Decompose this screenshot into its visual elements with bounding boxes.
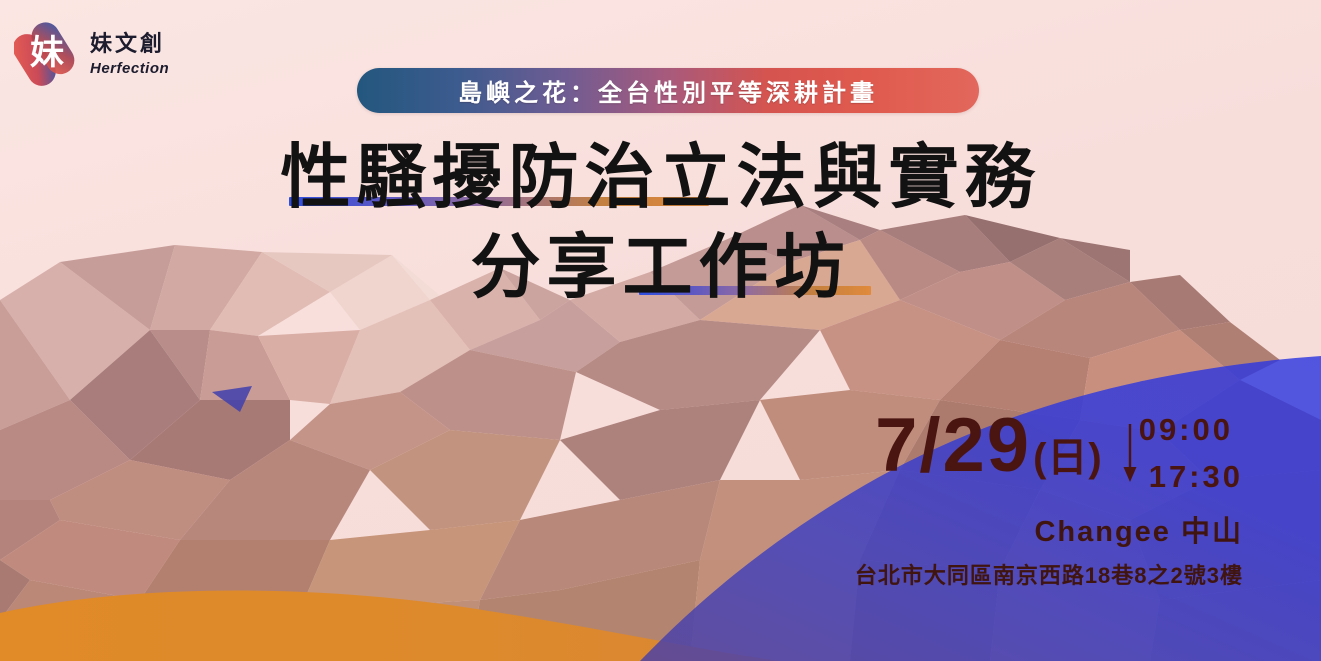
page-title: 性騷擾防治立法與實務 分享工作坊 xyxy=(0,140,1321,305)
herfection-logo-mark-icon: 妹 xyxy=(14,14,80,90)
title-line-2: 分享工作坊 xyxy=(471,230,851,306)
logo-glyph: 妹 xyxy=(30,33,64,73)
title-line-1-text: 性騷擾防治立法與實務 xyxy=(281,138,1041,216)
brand-name-block: 妹文創 Herfection xyxy=(90,29,169,76)
event-date: 7/29 (日) xyxy=(875,408,1103,484)
title-line-1: 性騷擾防治立法與實務 xyxy=(281,140,1041,216)
event-time-group: 09:00 17:30 xyxy=(1121,408,1243,492)
event-poster: 妹 妹文創 Herfection 島嶼之花：全台性別平等深耕計畫 性騷擾防治立法… xyxy=(0,0,1321,661)
event-venue: Changee 中山 台北市大同區南京西路18巷8之2號3樓 xyxy=(855,508,1243,590)
brand-logo[interactable]: 妹 妹文創 Herfection xyxy=(14,14,169,90)
arrow-down-icon xyxy=(1121,422,1139,484)
event-time-end: 17:30 xyxy=(1149,461,1243,492)
venue-name: Changee 中山 xyxy=(855,508,1243,550)
event-day-of-week: (日) xyxy=(1033,438,1103,478)
brand-name-cn: 妹文創 xyxy=(90,33,169,55)
program-banner-text: 島嶼之花：全台性別平等深耕計畫 xyxy=(458,73,878,108)
program-banner: 島嶼之花：全台性別平等深耕計畫 xyxy=(357,68,979,113)
title-line-2-text: 分享工作坊 xyxy=(471,228,851,306)
event-times: 09:00 17:30 xyxy=(1139,414,1243,492)
brand-name-en: Herfection xyxy=(90,61,169,76)
event-datetime: 7/29 (日) 09:00 17:30 xyxy=(875,408,1243,492)
venue-address: 台北市大同區南京西路18巷8之2號3樓 xyxy=(855,558,1243,590)
event-time-start: 09:00 xyxy=(1139,414,1243,445)
event-date-number: 7/29 xyxy=(875,408,1031,484)
